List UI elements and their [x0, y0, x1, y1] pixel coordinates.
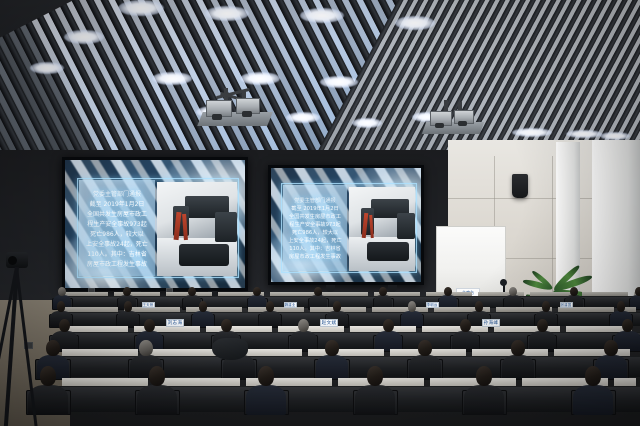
left-projection-screen[interactable]: 党委主管部门通报截至 2019年1月2日全国共发生房屋市政工程生产安全事故973…: [62, 157, 248, 291]
person-head: [570, 287, 578, 296]
downlight-icon: [512, 128, 552, 137]
downlight-icon: [118, 0, 164, 16]
slide-accident-photo: [349, 187, 415, 271]
name-placard-text: 刘志海: [168, 320, 183, 326]
person-head: [298, 319, 309, 333]
slide-text-line: 全国共发生房屋市政工: [289, 213, 341, 220]
conference-hall-photo: 党委主管部门通报截至 2019年1月2日全国共发生房屋市政工程生产安全事故973…: [0, 0, 640, 426]
desk-surface: [206, 326, 272, 332]
name-placard-text: 李明远: [427, 302, 438, 307]
slide-text-line: 房屋市政工程发生事故: [289, 253, 341, 260]
desk-surface: [582, 292, 628, 296]
person-head: [617, 301, 626, 312]
person-shoulders: [573, 385, 614, 415]
person-head: [266, 301, 275, 312]
desk-surface: [372, 307, 428, 312]
person-head: [379, 287, 387, 296]
person-head: [123, 287, 131, 296]
name-placard: 刘志海: [166, 319, 184, 327]
person-head: [418, 340, 431, 356]
person-shoulders: [401, 311, 423, 327]
desk-surface: [62, 292, 108, 296]
downlight-icon: [320, 76, 358, 88]
downlight-icon: [352, 118, 382, 128]
backpack: [212, 338, 248, 360]
person-head: [635, 287, 640, 296]
person-shoulders: [355, 385, 396, 415]
person-head: [542, 301, 551, 312]
person-head: [509, 287, 517, 296]
person-head: [46, 340, 59, 356]
slide-text-line: 死亡986人，较大以: [292, 229, 338, 236]
slide-text-line: 截至 2019年1月2日: [90, 199, 145, 208]
person-shoulders: [137, 385, 178, 415]
name-placard-text: 魏建业: [285, 302, 296, 307]
desk-surface: [62, 378, 148, 386]
person-head: [57, 301, 66, 312]
right-projection-screen[interactable]: 党委主管部门通报截至 2019年1月2日全国共发生房屋市政工程生产安全事故973…: [268, 165, 424, 285]
person-shoulders: [192, 311, 214, 327]
person-shoulders: [529, 331, 556, 351]
person-head: [199, 301, 208, 312]
person-head: [124, 301, 133, 312]
desk-surface: [614, 378, 636, 386]
person-head: [383, 319, 394, 333]
slide-text-line: 全国共发生房屋市政工: [87, 209, 147, 218]
microphone-head: [500, 279, 507, 286]
name-placard: 李明远: [426, 302, 439, 308]
desk-surface: [62, 307, 118, 312]
person-head: [144, 319, 155, 333]
ceiling-projector-left: [200, 86, 270, 134]
slide-text-line: 党委主管部门通报: [294, 197, 336, 204]
slide-text-block: 党委主管部门通报截至 2019年1月2日全国共发生房屋市政工程生产安全事故973…: [79, 180, 155, 276]
wall-mounted-speaker: [512, 174, 528, 198]
desk-surface: [144, 349, 220, 356]
slide-text-line: 截至 2019年1月2日: [291, 205, 338, 212]
slide-text-line: 党委主管部门通报: [93, 189, 141, 198]
person-shoulders: [375, 331, 402, 351]
slide-text-line: 上安全事故24起，死亡: [288, 237, 341, 244]
person-shoulders: [259, 311, 281, 327]
person-head: [585, 366, 602, 386]
person-shoulders: [409, 355, 441, 379]
slide-text-line: 110人。其中：吉林省: [87, 249, 146, 258]
name-placard: 张建国: [560, 302, 573, 308]
slide-text-line: 程生产安全事故973起: [87, 219, 146, 228]
person-shoulders: [502, 355, 534, 379]
person-head: [511, 340, 524, 356]
slide-accident-photo: [157, 182, 237, 276]
person-shoulders: [464, 385, 505, 415]
name-placard-text: 孙海峰: [484, 320, 499, 326]
desk-surface: [308, 349, 384, 356]
person-head: [408, 301, 417, 312]
video-camera-on-tripod[interactable]: [0, 252, 46, 426]
person-head: [460, 319, 471, 333]
person-head: [59, 319, 70, 333]
person-head: [253, 287, 261, 296]
desk-surface: [62, 349, 138, 356]
name-placard: 王天桥: [142, 302, 155, 308]
downlight-icon: [240, 72, 280, 85]
slide-text-line: 房屋市政工程发生事故: [87, 259, 147, 268]
person-shoulders: [246, 385, 287, 415]
desk-surface: [154, 378, 240, 386]
name-placard: 孙海峰: [482, 319, 500, 327]
downlight-icon: [30, 62, 64, 74]
slide-text-line: 程生产安全事故973起: [289, 221, 340, 228]
name-placard-text: 张建国: [561, 302, 572, 307]
person-head: [58, 287, 66, 296]
downlight-icon: [300, 8, 344, 23]
downlight-icon: [566, 130, 602, 138]
slide-text-block: 党委主管部门通报截至 2019年1月2日全国共发生房屋市政工程生产安全事故973…: [283, 185, 347, 271]
person-head: [537, 319, 548, 333]
name-placard-text: 赵文斌: [322, 320, 337, 326]
person-head: [475, 301, 484, 312]
desk-surface: [322, 292, 368, 296]
person-shoulders: [316, 355, 348, 379]
slide-text-line: 110人。其中：吉林省: [289, 245, 340, 252]
person-shoulders: [117, 311, 139, 327]
desk-surface: [430, 378, 516, 386]
slide-text-line: 上安全事故24起，死亡: [86, 239, 148, 248]
downlight-icon: [286, 112, 320, 123]
person-head: [367, 366, 384, 386]
name-placard: 赵文斌: [320, 319, 338, 327]
person-head: [604, 340, 617, 356]
camera-lens-icon: [8, 256, 17, 265]
desk-surface: [186, 307, 242, 312]
person-head: [314, 287, 322, 296]
person-head: [444, 287, 452, 296]
desk-surface: [422, 326, 488, 332]
person-head: [221, 319, 232, 333]
desk-surface: [270, 292, 316, 296]
person-shoulders: [290, 331, 317, 351]
person-head: [622, 319, 633, 333]
person-head: [476, 366, 493, 386]
person-shoulders: [452, 331, 479, 351]
downlight-icon: [600, 132, 630, 140]
person-head: [188, 287, 196, 296]
name-placard: 魏建业: [284, 302, 297, 308]
slide-text-line: 死亡986人，较大以: [90, 229, 143, 238]
downlight-icon: [64, 30, 104, 44]
person-head: [325, 340, 338, 356]
person-head: [258, 366, 275, 386]
name-placard-text: 王天桥: [143, 302, 154, 307]
person-head: [333, 301, 342, 312]
downlight-icon: [205, 6, 249, 21]
downlight-icon: [395, 16, 435, 30]
person-head: [149, 366, 166, 386]
downlight-icon: [152, 72, 192, 85]
ceiling-projector-right: [424, 100, 482, 140]
person-head: [139, 340, 152, 356]
